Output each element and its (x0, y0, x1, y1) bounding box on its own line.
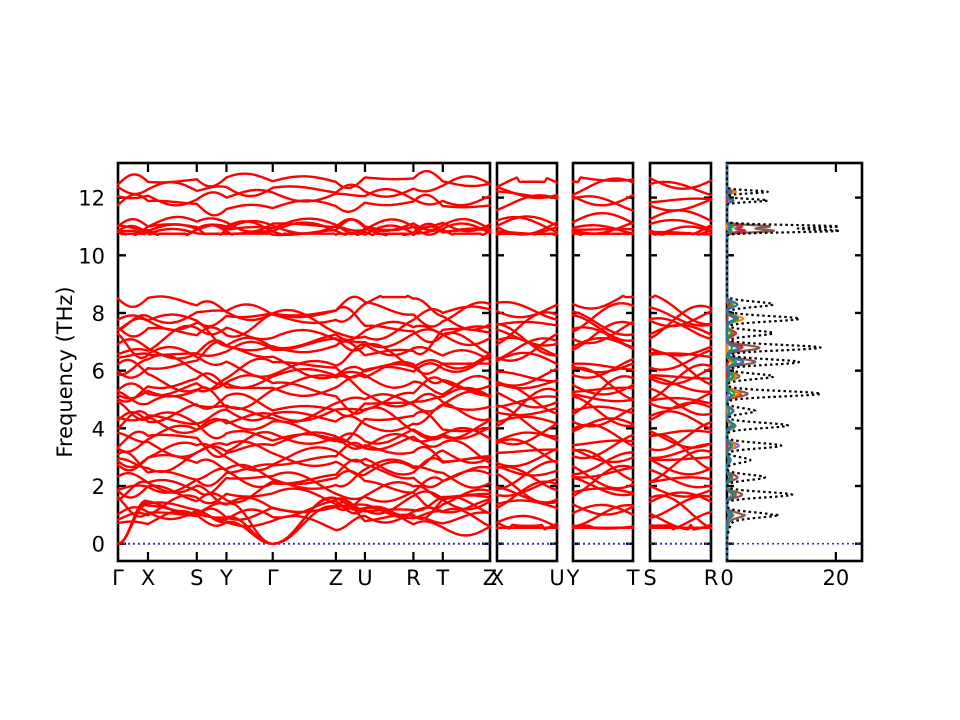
dos-xtick-label-20: 20 (823, 566, 850, 590)
band-curve (650, 199, 711, 203)
band-curve (573, 177, 633, 182)
xtick-label-2-Y: Y (566, 566, 580, 590)
band-curve (118, 176, 490, 196)
xtick-label-1-X: X (490, 566, 504, 590)
y-axis-title: Frequency (THz) (53, 286, 77, 457)
plot-canvas: 024681012Frequency (THz)ΓXSYΓZURTZXUYTSR… (0, 0, 960, 720)
xtick-label-0-X: X (141, 566, 155, 590)
xtick-label-1-U: U (549, 566, 564, 590)
ytick-label-8: 8 (92, 302, 105, 326)
band-curve (650, 495, 711, 528)
ytick-label-12: 12 (78, 187, 105, 211)
xtick-label-0-Γ: Γ (112, 566, 124, 590)
band-curve (573, 441, 633, 446)
band-curve (118, 171, 490, 188)
band-curve (497, 322, 557, 326)
xtick-label-0-Y: Y (219, 566, 233, 590)
band-curve (573, 213, 633, 223)
xtick-label-2-T: T (626, 566, 640, 590)
ytick-label-6: 6 (92, 360, 105, 384)
band-curve (573, 229, 633, 230)
xtick-label-0-S: S (190, 566, 203, 590)
xtick-label-3-S: S (643, 566, 656, 590)
ytick-label-10: 10 (78, 244, 105, 268)
xtick-label-0-U: U (357, 566, 372, 590)
band-curve (497, 178, 557, 187)
ytick-label-4: 4 (92, 417, 105, 441)
xtick-label-0-R: R (406, 566, 421, 590)
xtick-label-0-T: T (435, 566, 449, 590)
dos-xtick-label-0: 0 (720, 566, 733, 590)
ytick-label-2: 2 (92, 475, 105, 499)
band-curve (650, 210, 711, 220)
xtick-label-0-Γ: Γ (267, 566, 279, 590)
band-curve (650, 398, 711, 403)
xtick-label-3-R: R (704, 566, 719, 590)
ytick-label-0: 0 (92, 533, 105, 557)
xtick-label-0-Z: Z (329, 566, 343, 590)
band-curve (497, 424, 557, 444)
phonon-band-dos-figure: 024681012Frequency (THz)ΓXSYΓZURTZXUYTSR… (0, 0, 960, 720)
